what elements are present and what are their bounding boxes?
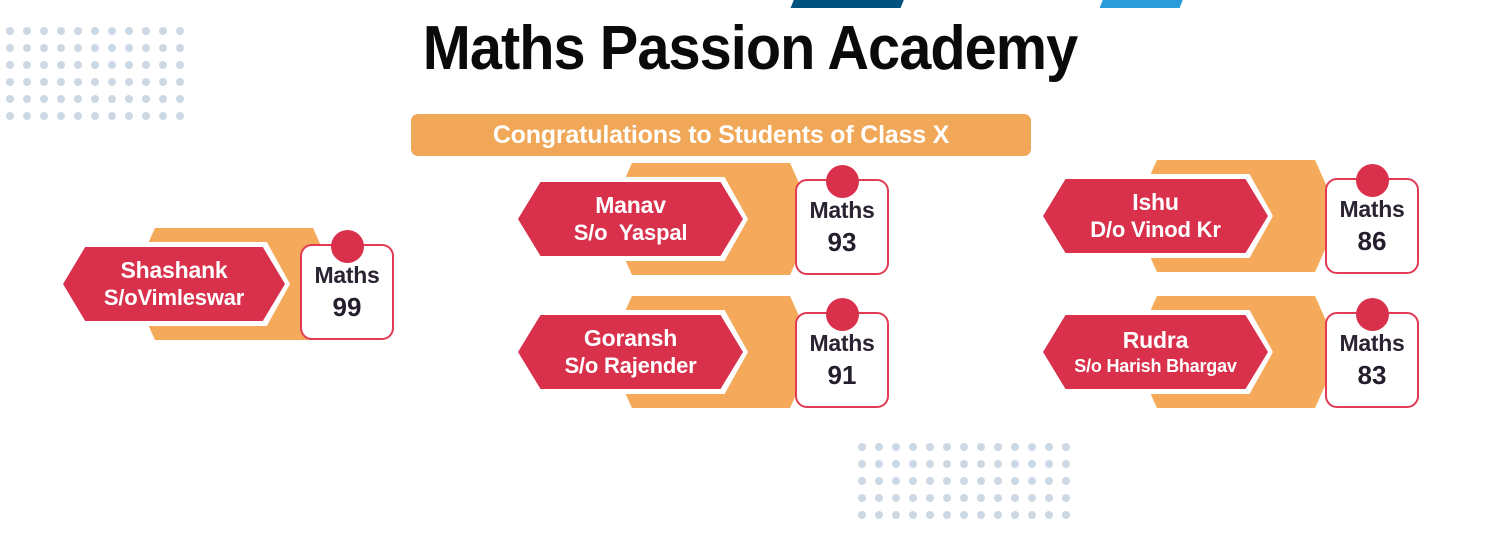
congratulations-banner: Congratulations to Students of Class X bbox=[411, 114, 1031, 156]
decorative-dot bbox=[23, 61, 31, 69]
score-subject: Maths bbox=[810, 195, 875, 225]
student-parent: D/o Vinod Kr bbox=[1090, 216, 1220, 244]
decorative-dot bbox=[1011, 511, 1019, 519]
decorative-dot bbox=[875, 477, 883, 485]
decorative-dot bbox=[57, 95, 65, 103]
decorative-dot bbox=[159, 95, 167, 103]
decorative-dot bbox=[858, 477, 866, 485]
decorative-dot bbox=[977, 443, 985, 451]
decorative-dot bbox=[1028, 477, 1036, 485]
student-parent: S/o Rajender bbox=[564, 352, 696, 380]
decorative-dot bbox=[875, 511, 883, 519]
decorative-dot bbox=[40, 61, 48, 69]
score-marker-dot-icon bbox=[1356, 164, 1389, 197]
top-accent-bar-light-icon bbox=[1100, 0, 1189, 8]
hexagon-name-plate-manav: Manav S/o Yaspal bbox=[518, 182, 743, 256]
decorative-dot bbox=[176, 95, 184, 103]
decorative-dot bbox=[1028, 511, 1036, 519]
decorative-dot bbox=[892, 511, 900, 519]
score-marks: 93 bbox=[828, 225, 857, 259]
decorative-dot bbox=[1045, 511, 1053, 519]
score-marker-dot-icon bbox=[826, 298, 859, 331]
student-name: Shashank bbox=[120, 256, 227, 284]
decorative-dot bbox=[943, 511, 951, 519]
decorative-dot bbox=[909, 511, 917, 519]
decorative-dot bbox=[40, 112, 48, 120]
hexagon-name-plate-shashank: Shashank S/oVimleswar bbox=[63, 247, 285, 321]
decorative-dot bbox=[909, 477, 917, 485]
decorative-dot bbox=[23, 78, 31, 86]
decorative-dot bbox=[23, 27, 31, 35]
decorative-dot bbox=[6, 61, 14, 69]
decorative-dot bbox=[1011, 477, 1019, 485]
decorative-dot bbox=[960, 494, 968, 502]
decorative-dot bbox=[23, 44, 31, 52]
decorative-dot bbox=[858, 443, 866, 451]
decorative-dot bbox=[943, 460, 951, 468]
student-name: Goransh bbox=[584, 324, 677, 352]
score-card-rudra: Maths 83 bbox=[1325, 312, 1419, 408]
decorative-dot bbox=[1045, 460, 1053, 468]
decorative-dot bbox=[960, 443, 968, 451]
hexagon-name-plate-goransh: Goransh S/o Rajender bbox=[518, 315, 743, 389]
score-card-goransh: Maths 91 bbox=[795, 312, 889, 408]
decorative-dot bbox=[91, 112, 99, 120]
decorative-dot bbox=[142, 95, 150, 103]
decorative-dot bbox=[994, 477, 1002, 485]
student-parent: S/oVimleswar bbox=[104, 284, 244, 312]
score-marker-dot-icon bbox=[826, 165, 859, 198]
score-marks: 99 bbox=[333, 290, 362, 324]
decorative-dot bbox=[1062, 494, 1070, 502]
decorative-dot bbox=[6, 44, 14, 52]
decorative-dot bbox=[960, 477, 968, 485]
decorative-dot bbox=[960, 511, 968, 519]
student-name: Rudra bbox=[1123, 326, 1188, 354]
decorative-dot bbox=[23, 95, 31, 103]
decorative-dot bbox=[142, 112, 150, 120]
decorative-dot bbox=[1045, 443, 1053, 451]
hexagon-name-plate-rudra: Rudra S/o Harish Bhargav bbox=[1043, 315, 1268, 389]
top-accent-bar-dark-icon bbox=[791, 0, 910, 8]
score-card-manav: Maths 93 bbox=[795, 179, 889, 275]
decorative-dot bbox=[858, 511, 866, 519]
decorative-dot bbox=[1062, 460, 1070, 468]
student-name: Ishu bbox=[1132, 188, 1178, 216]
decorative-dot bbox=[994, 511, 1002, 519]
score-marks: 91 bbox=[828, 358, 857, 392]
decorative-dot bbox=[40, 95, 48, 103]
decorative-dot bbox=[23, 112, 31, 120]
score-card-shashank: Maths 99 bbox=[300, 244, 394, 340]
decorative-dot bbox=[875, 443, 883, 451]
decorative-dot bbox=[57, 112, 65, 120]
decorative-dot bbox=[176, 112, 184, 120]
decorative-dot bbox=[40, 27, 48, 35]
decorative-dot bbox=[977, 477, 985, 485]
hexagon-name-plate-ishu: Ishu D/o Vinod Kr bbox=[1043, 179, 1268, 253]
decorative-dot bbox=[74, 95, 82, 103]
decorative-dot-grid-bottom bbox=[858, 443, 1070, 519]
score-marker-dot-icon bbox=[331, 230, 364, 263]
decorative-dot bbox=[108, 95, 116, 103]
score-subject: Maths bbox=[810, 328, 875, 358]
decorative-dot bbox=[40, 44, 48, 52]
decorative-dot bbox=[926, 477, 934, 485]
decorative-dot bbox=[875, 460, 883, 468]
score-marks: 83 bbox=[1358, 358, 1387, 392]
decorative-dot bbox=[6, 78, 14, 86]
decorative-dot bbox=[943, 494, 951, 502]
student-parent: S/o Yaspal bbox=[574, 219, 688, 247]
score-subject: Maths bbox=[1340, 194, 1405, 224]
student-parent: S/o Harish Bhargav bbox=[1074, 354, 1236, 378]
decorative-dot bbox=[875, 494, 883, 502]
decorative-dot bbox=[909, 443, 917, 451]
decorative-dot bbox=[977, 460, 985, 468]
decorative-dot bbox=[977, 494, 985, 502]
decorative-dot bbox=[926, 494, 934, 502]
decorative-dot bbox=[91, 95, 99, 103]
decorative-dot bbox=[909, 460, 917, 468]
score-card-ishu: Maths 86 bbox=[1325, 178, 1419, 274]
decorative-dot bbox=[159, 112, 167, 120]
decorative-dot bbox=[909, 494, 917, 502]
score-subject: Maths bbox=[1340, 328, 1405, 358]
decorative-dot bbox=[6, 112, 14, 120]
decorative-dot bbox=[125, 112, 133, 120]
decorative-dot bbox=[1045, 477, 1053, 485]
score-marker-dot-icon bbox=[1356, 298, 1389, 331]
decorative-dot bbox=[108, 112, 116, 120]
decorative-dot bbox=[977, 511, 985, 519]
decorative-dot bbox=[994, 443, 1002, 451]
decorative-dot bbox=[926, 511, 934, 519]
decorative-dot bbox=[1028, 460, 1036, 468]
score-subject: Maths bbox=[315, 260, 380, 290]
decorative-dot bbox=[1011, 494, 1019, 502]
decorative-dot bbox=[1011, 443, 1019, 451]
decorative-dot bbox=[892, 443, 900, 451]
decorative-dot bbox=[892, 477, 900, 485]
decorative-dot bbox=[926, 443, 934, 451]
decorative-dot bbox=[892, 494, 900, 502]
decorative-dot bbox=[6, 95, 14, 103]
page-title: Maths Passion Academy bbox=[53, 8, 1448, 90]
decorative-dot bbox=[6, 27, 14, 35]
decorative-dot bbox=[1028, 443, 1036, 451]
decorative-dot bbox=[994, 494, 1002, 502]
decorative-dot bbox=[858, 460, 866, 468]
decorative-dot bbox=[858, 494, 866, 502]
decorative-dot bbox=[40, 78, 48, 86]
decorative-dot bbox=[1062, 511, 1070, 519]
decorative-dot bbox=[994, 460, 1002, 468]
decorative-dot bbox=[1028, 494, 1036, 502]
decorative-dot bbox=[943, 443, 951, 451]
poster-canvas: Maths Passion Academy Congratulations to… bbox=[0, 0, 1500, 540]
decorative-dot bbox=[926, 460, 934, 468]
decorative-dot bbox=[1045, 494, 1053, 502]
decorative-dot bbox=[960, 460, 968, 468]
decorative-dot bbox=[1062, 443, 1070, 451]
decorative-dot bbox=[1011, 460, 1019, 468]
decorative-dot bbox=[892, 460, 900, 468]
score-marks: 86 bbox=[1358, 224, 1387, 258]
decorative-dot bbox=[943, 477, 951, 485]
decorative-dot bbox=[125, 95, 133, 103]
decorative-dot bbox=[1062, 477, 1070, 485]
decorative-dot bbox=[74, 112, 82, 120]
student-name: Manav bbox=[595, 191, 666, 219]
